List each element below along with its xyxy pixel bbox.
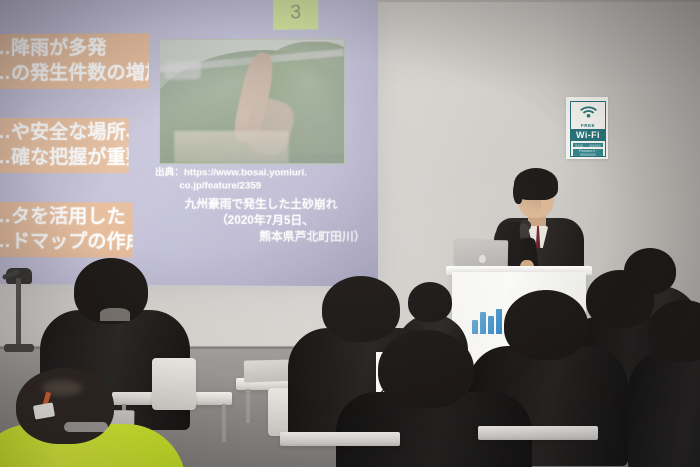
audience-head	[378, 330, 474, 408]
wifi-password-row: Password : 00000000	[573, 149, 604, 156]
slide-photo-caption: 九州豪雨で発生した土砂崩れ （2020年7月5日、 熊本県芦北町田川）	[155, 196, 368, 245]
slide-band-1-line-1: …降雨が多発	[0, 35, 143, 61]
wifi-sign-frame: FREE Wi-Fi SSID ： 000000 Password : 0000…	[570, 101, 606, 157]
audience-table	[478, 426, 598, 440]
free-wifi-sign: FREE Wi-Fi SSID ： 000000 Password : 0000…	[566, 97, 608, 159]
slide-text-band-2: …や安全な場所、 …確な把握が重要	[0, 118, 129, 173]
wifi-signal-icon	[579, 105, 598, 123]
wifi-free-label: FREE	[581, 123, 595, 128]
audience-member-far-right	[640, 300, 700, 440]
audience-member-center-front	[352, 330, 512, 467]
camera-stand-base	[4, 344, 34, 352]
slide-page-number: 3	[273, 0, 318, 30]
table-leg	[222, 404, 226, 442]
audience-shirt-collar	[64, 422, 108, 432]
slide-caption-line-2: （2020年7月5日、	[155, 213, 368, 230]
audience-shirt-collar	[100, 308, 130, 321]
slide-source-line-2: co.jp/feature/2359	[155, 179, 359, 193]
slide-band-3-line-1: …タを活用した	[0, 204, 127, 230]
slide-text-band-1: …降雨が多発 …の発生件数の増加	[0, 33, 149, 89]
conference-photo-scene: 3 …降雨が多発 …の発生件数の増加 …や安全な場所、 …確な把握が重要 …タを…	[0, 0, 700, 467]
wifi-ssid-row: SSID ： 000000	[573, 143, 604, 147]
slide-band-2-line-2: …確な把握が重要	[0, 145, 123, 170]
table-leg	[246, 389, 250, 423]
photo-projection-haze	[160, 40, 344, 164]
slide-caption-line-3: 熊本県芦北町田川）	[155, 229, 368, 246]
slide-band-2-line-1: …や安全な場所、	[0, 120, 123, 145]
slide-caption-line-1: 九州豪雨で発生した土砂崩れ	[185, 198, 338, 211]
slide-band-3-line-2: …ドマップの作成	[0, 229, 127, 255]
slide-band-1-line-2: …の発生件数の増加	[0, 60, 143, 86]
audience-torso	[628, 350, 700, 467]
audience-head	[504, 290, 588, 360]
laptop-lid-logo-icon	[479, 255, 486, 263]
audience-head	[648, 300, 700, 362]
projected-slide: 3 …降雨が多発 …の発生件数の増加 …や安全な場所、 …確な把握が重要 …タを…	[0, 0, 378, 286]
slide-source-caption: 出典：https://www.bosai.yomiuri. co.jp/feat…	[155, 166, 359, 193]
audience-table	[280, 432, 400, 446]
slide-landslide-photo	[159, 38, 345, 164]
slide-text-band-3: …タを活用した …ドマップの作成	[0, 202, 133, 258]
wifi-password-value: 00000000	[580, 153, 596, 156]
camera-stand-pole	[16, 278, 21, 348]
audience-laptop	[244, 360, 290, 383]
presenter-hair-side	[513, 180, 523, 204]
wifi-network-label: Wi-Fi	[571, 129, 605, 141]
slide-source-line-1: 出典：https://www.bosai.yomiuri.	[155, 167, 307, 178]
audience-member-hivis-front	[0, 370, 176, 467]
